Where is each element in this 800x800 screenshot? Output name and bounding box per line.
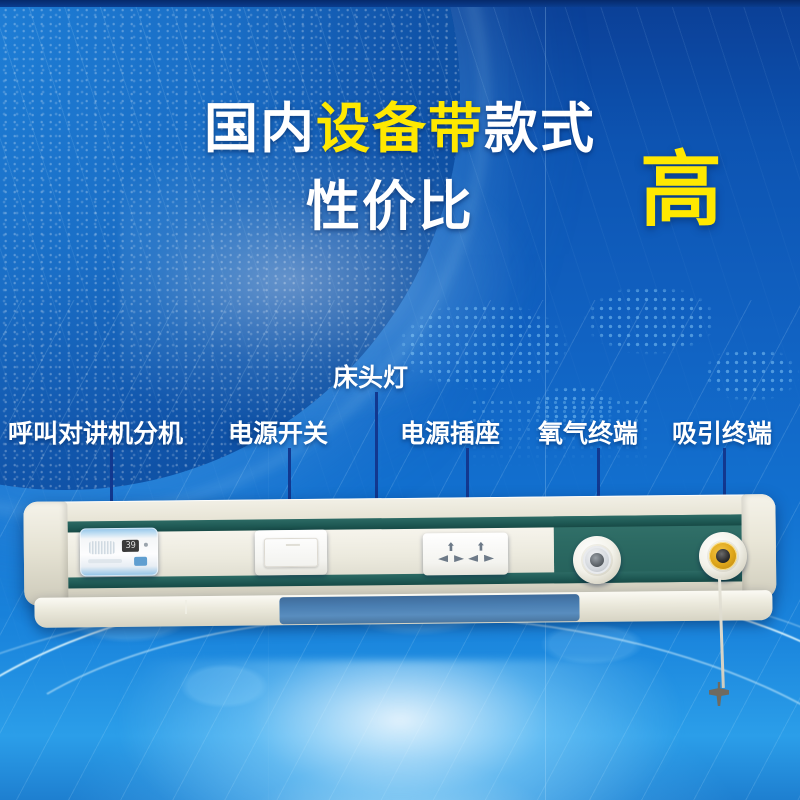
- callout-label-oxygen: 氧气终端: [538, 414, 638, 450]
- bed-lamp-diffuser: [279, 594, 579, 624]
- callout-layer: 呼叫对讲机分机 电源开关 床头灯 电源插座 氧气终端 吸引终端: [0, 0, 800, 800]
- rocker-mark-icon: [286, 544, 300, 546]
- status-led-icon: [144, 543, 148, 547]
- socket-pin-left-icon: [468, 555, 478, 562]
- socket-pin-right-icon: [454, 555, 464, 562]
- power-switch-unit[interactable]: [255, 530, 327, 576]
- panel-small-cord: [185, 600, 187, 614]
- terminal-port-icon: [590, 553, 604, 567]
- banner-stage: 国内设备带款式 性价比 高 呼叫对讲机分机 电源开关 床头灯 电源插座 氧气终端…: [0, 0, 800, 800]
- speaker-grille-icon: [89, 541, 115, 554]
- callout-label-bed-lamp: 床头灯: [333, 358, 408, 394]
- socket-pin-top-icon: [448, 542, 454, 551]
- socket-pin-right-icon: [484, 555, 494, 562]
- terminal-port-icon: [716, 549, 730, 563]
- intercom-accent-bar: [88, 559, 122, 563]
- socket-pin-top-icon: [478, 542, 484, 551]
- power-socket-unit[interactable]: [423, 533, 508, 576]
- callout-label-power-socket: 电源插座: [400, 414, 500, 450]
- socket-outlet-1[interactable]: [437, 542, 465, 566]
- rocker-switch[interactable]: [264, 538, 318, 568]
- intercom-call-button[interactable]: [134, 557, 147, 566]
- panel-endcap-left: [23, 501, 68, 605]
- callout-label-intercom: 呼叫对讲机分机: [8, 414, 183, 450]
- nurse-call-intercom-unit[interactable]: 39: [80, 528, 158, 577]
- callout-label-suction: 吸引终端: [672, 414, 772, 450]
- socket-outlet-2[interactable]: [467, 542, 495, 566]
- suction-terminal-unit[interactable]: [699, 532, 748, 581]
- intercom-display: 39: [122, 540, 139, 552]
- socket-pin-left-icon: [438, 555, 448, 562]
- callout-label-power-switch: 电源开关: [228, 414, 328, 450]
- panel-endcap-right: [741, 494, 776, 598]
- oxygen-terminal-unit[interactable]: [573, 536, 622, 585]
